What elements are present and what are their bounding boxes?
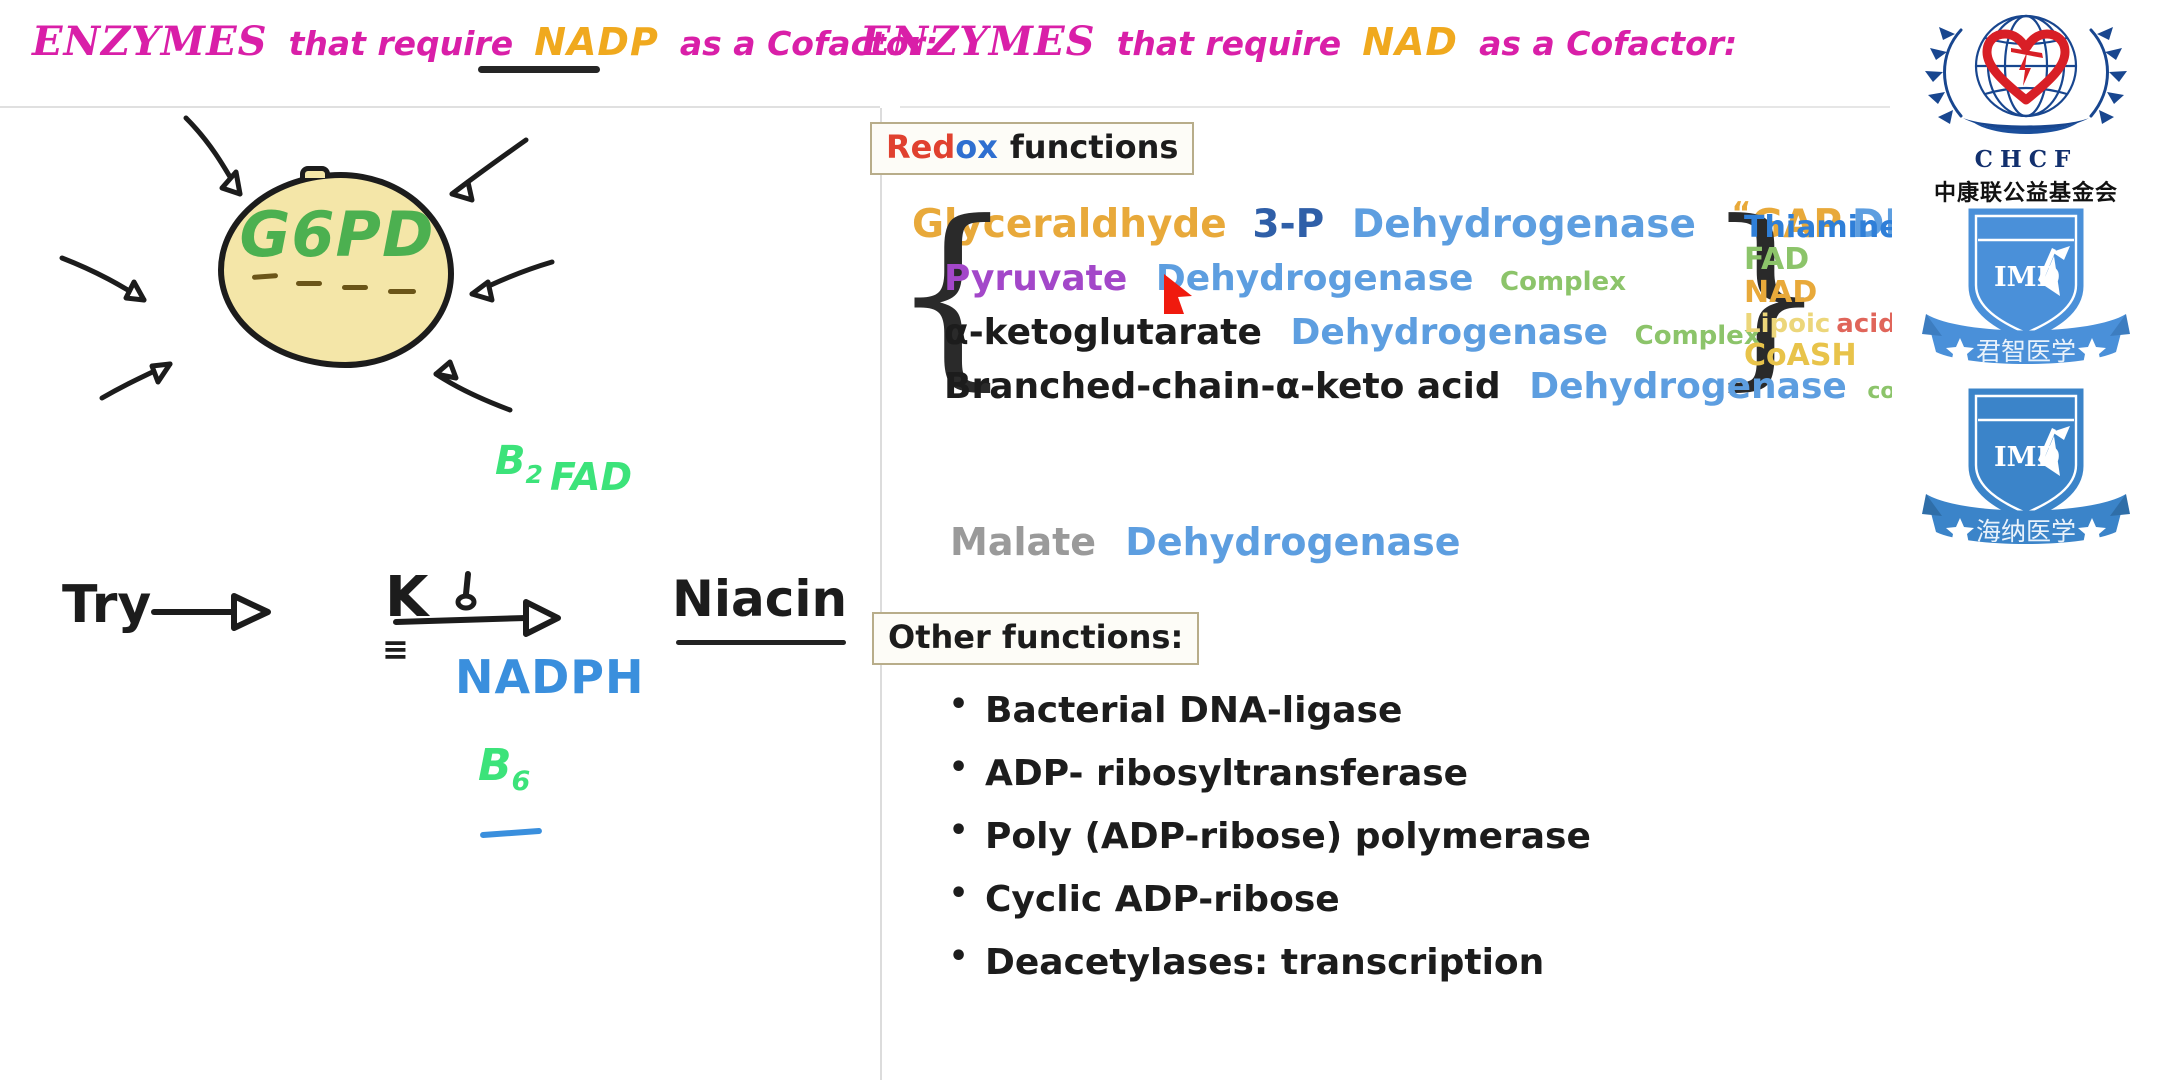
g6pd-dashes [252,272,428,292]
malate-line: Malate Dehydrogenase [950,520,1461,564]
list-item: Poly (ADP-ribose) polymerase [985,816,1765,857]
gapdh-enzyme: Dehydrogenase [1352,202,1696,247]
right-header-enzymes: ENZYMES [860,18,1095,65]
redox-red-part: Red [886,128,955,166]
cofactor-label: FAD [1744,242,1809,277]
right-header-suffix: as a Cofactor: [1479,24,1737,63]
cofactor-label: Thiamine [1744,210,1900,245]
complex-row-ketoglutarate: α-ketoglutarate Dehydrogenase Complex [944,312,1761,353]
left-header: ENZYMES that require NADP as a Cofactor: [32,18,938,65]
imd-banner-text-2: 海纳医学 [1976,517,2076,546]
cofactor-label: NAD [1744,275,1817,310]
tryptophan-label: Try [62,575,151,635]
redox-ox-part: ox [955,128,998,166]
slide-root: ENZYMES that require NADP as a Cofactor: [0,0,2160,1080]
cofactor-label: Lipoic [1744,309,1830,339]
list-item: Deacetylases: transcription [985,942,1765,983]
redox-functions-word: functions [1010,128,1179,166]
left-header-mid: that require [289,24,514,63]
imd-banner-text-1: 君智医学 [1976,337,2076,366]
imd-logo-2: IMD 海纳医学 [1892,380,2160,556]
left-column: ENZYMES that require NADP as a Cofactor: [0,0,880,1080]
list-item: Cyclic ADP-ribose [985,879,1765,920]
logo-sidebar: CHCF 中康联公益基金会 IMD [1892,0,2160,1080]
right-header: ENZYMES that require NAD as a Cofactor: [860,18,1737,65]
right-header-mid: that require [1117,24,1342,63]
gapdh-number: 3- [1252,202,1295,247]
complex-suffix: Complex [1500,267,1626,297]
complex-substrate: Branched-chain-α-keto acid [944,366,1501,407]
chcf-acronym: CHCF [1892,146,2160,173]
fad-label: FAD [550,455,632,499]
vitamin-b6-label: B6 [478,740,530,797]
other-functions-label: Other functions: [888,618,1183,656]
complex-suffix: Complex [1635,321,1761,351]
cofactor-label-extra: acid [1836,309,1896,339]
right-header-cofactor: NAD [1362,20,1458,64]
left-header-cofactor: NADP [534,20,659,64]
g6pd-label: G6PD [232,198,442,271]
complex-enzyme: Dehydrogenase [1290,312,1608,353]
right-column: ENZYMES that require NAD as a Cofactor: … [882,0,1890,1080]
cofactor-label: CoASH [1744,338,1857,373]
left-header-enzymes: ENZYMES [32,18,267,65]
malate-substrate: Malate [950,520,1096,564]
chcf-logo: CHCF 中康联公益基金会 [1892,8,2160,207]
nadp-underline [478,66,600,73]
imd-shield-icon: IMD 君智医学 [1902,200,2150,372]
malate-enzyme: Dehydrogenase [1125,520,1460,564]
pathway-arrows [150,560,710,680]
imd-shield-icon: IMD 海纳医学 [1902,380,2150,552]
gapdh-p: P [1296,202,1325,247]
complex-enzyme: Dehydrogenase [1156,258,1474,299]
b6-underline [480,828,542,838]
complex-substrate: α-ketoglutarate [944,312,1262,353]
complex-substrate: Pyruvate [944,258,1127,299]
redox-functions-box: Redoxfunctions [870,122,1194,175]
imd-logo-1: IMD 君智医学 [1892,200,2160,376]
chcf-globe-icon [1915,8,2137,140]
g6pd-blob-notch [300,166,330,178]
list-item: Bacterial DNA-ligase [985,690,1765,731]
red-cursor-marker [1158,270,1200,318]
other-functions-box: Other functions: [872,612,1199,665]
complex-row-pyruvate: Pyruvate Dehydrogenase Complex [944,258,1626,299]
other-functions-list: Bacterial DNA-ligase ADP- ribosyltransfe… [985,690,1765,1005]
list-item: ADP- ribosyltransferase [985,753,1765,794]
vitamin-b2-label: B2 [495,438,543,489]
